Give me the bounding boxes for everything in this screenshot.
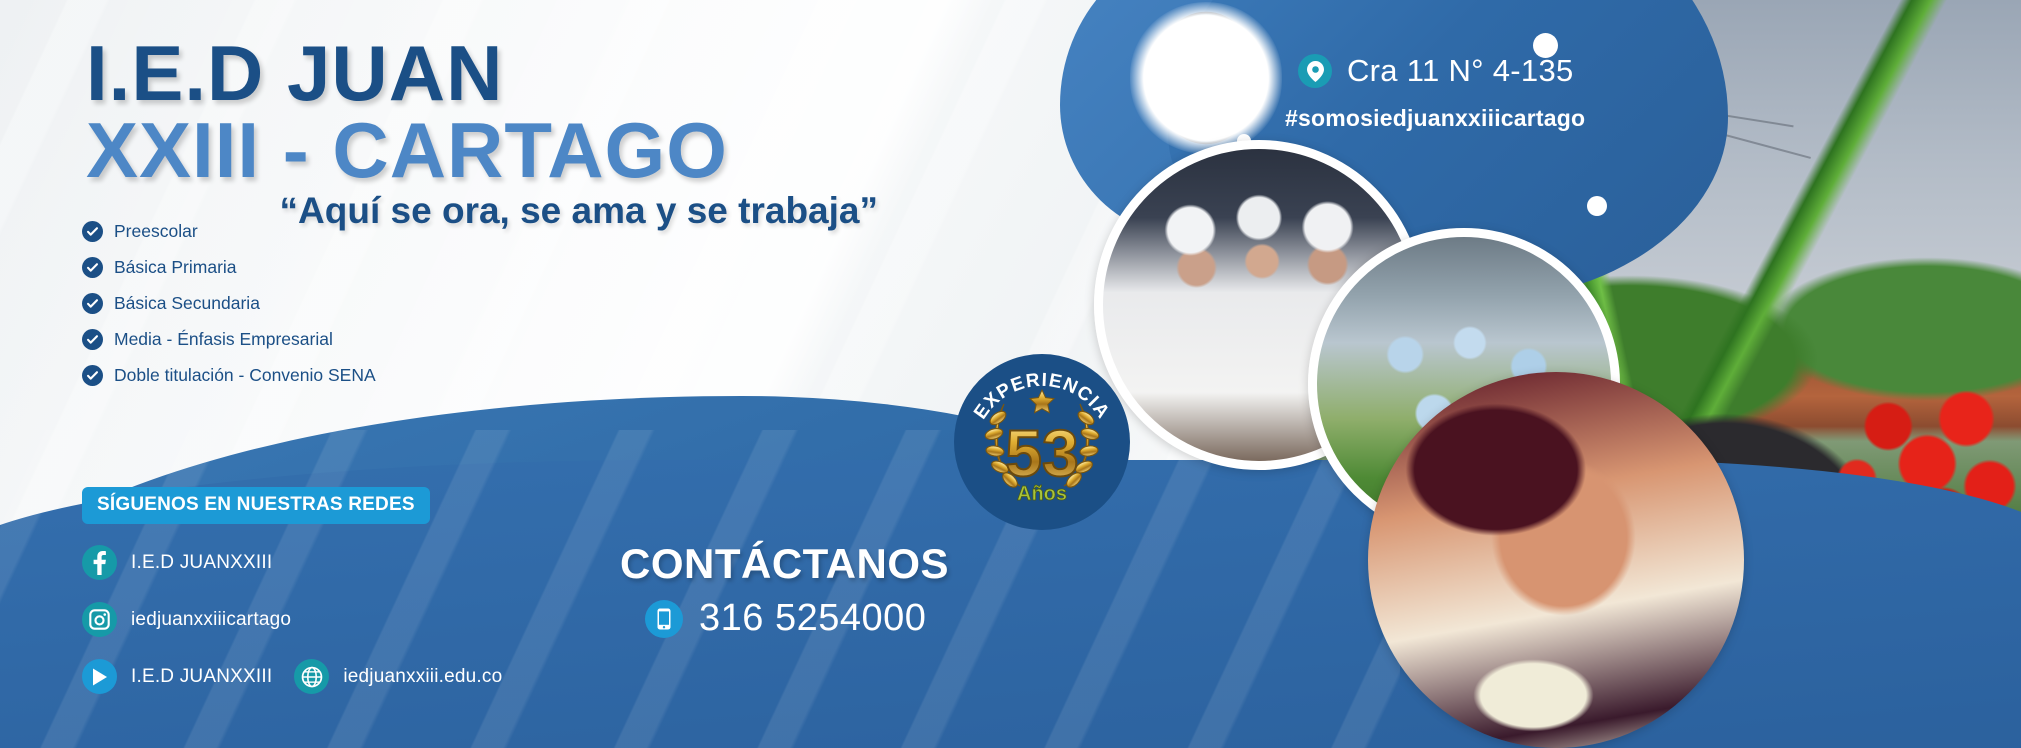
- experience-number: 53: [1005, 416, 1078, 490]
- decor-dot-2: [1587, 196, 1607, 216]
- facebook-handle: I.E.D JUANXXIII: [131, 552, 272, 574]
- globe-icon[interactable]: [294, 659, 329, 694]
- program-item: Básica Primaria: [82, 256, 376, 279]
- social-row-instagram[interactable]: iedjuanxxiiicartago: [82, 598, 502, 641]
- facebook-icon[interactable]: [82, 545, 117, 580]
- check-circle-icon: [82, 257, 103, 278]
- phone-row[interactable]: 316 5254000: [645, 597, 926, 640]
- program-item: Preescolar: [82, 220, 376, 243]
- spacer: [82, 315, 376, 328]
- program-item: Doble titulación - Convenio SENA: [82, 364, 376, 387]
- school-banner: Aqui se Ora Se Ama Se Trabaja Institucio…: [0, 0, 2021, 748]
- address-row: Cra 11 N° 4-135: [1298, 53, 1574, 89]
- check-circle-icon: [82, 221, 103, 242]
- social-row-facebook[interactable]: I.E.D JUANXXIII: [82, 541, 502, 584]
- social-row-youtube-website[interactable]: I.E.D JUANXXIII iedjuanxxiii.edu.co: [82, 655, 502, 698]
- social-links: I.E.D JUANXXIII iedjuanxxiiicartago I.E.…: [82, 541, 502, 712]
- check-circle-icon: [82, 293, 103, 314]
- spacer: [82, 351, 376, 364]
- school-crest-logo: Aqui se Ora Se Ama Se Trabaja Institucio…: [1136, 8, 1276, 148]
- program-label: Media - Énfasis Empresarial: [114, 329, 333, 350]
- check-circle-icon: [82, 329, 103, 350]
- program-label: Doble titulación - Convenio SENA: [114, 365, 376, 386]
- programs-list: Preescolar Básica Primaria Básica Secund…: [82, 220, 376, 387]
- social-heading: SÍGUENOS EN NUESTRAS REDES: [82, 487, 430, 524]
- hashtag-text: #somosiedjuanxxiiicartago: [1285, 105, 1585, 132]
- experience-badge: EXPERIENCIA 53 Años: [952, 352, 1132, 532]
- experience-unit: Años: [1017, 483, 1067, 505]
- contact-heading: CONTÁCTANOS: [620, 540, 949, 588]
- address-text: Cra 11 N° 4-135: [1347, 53, 1574, 89]
- check-circle-icon: [82, 365, 103, 386]
- instagram-icon[interactable]: [82, 602, 117, 637]
- instagram-handle: iedjuanxxiiicartago: [131, 609, 291, 631]
- spacer: [82, 243, 376, 256]
- school-title: I.E.D JUAN XXIII - CARTAGO: [86, 36, 728, 190]
- title-line-2: XXIII - CARTAGO: [86, 111, 728, 191]
- phone-number: 316 5254000: [699, 597, 926, 640]
- program-label: Básica Secundaria: [114, 293, 260, 314]
- location-pin-icon: [1298, 54, 1332, 88]
- youtube-handle: I.E.D JUANXXIII: [131, 666, 272, 688]
- program-item: Media - Énfasis Empresarial: [82, 328, 376, 351]
- program-item: Básica Secundaria: [82, 292, 376, 315]
- youtube-play-icon[interactable]: [82, 659, 117, 694]
- program-label: Preescolar: [114, 221, 198, 242]
- website-url: iedjuanxxiii.edu.co: [343, 666, 502, 688]
- mobile-phone-icon: [645, 600, 683, 638]
- student-portrait-photo: [1368, 372, 1744, 748]
- crest-glow: [1130, 2, 1282, 154]
- program-label: Básica Primaria: [114, 257, 237, 278]
- spacer: [82, 279, 376, 292]
- title-line-1: I.E.D JUAN: [86, 36, 728, 111]
